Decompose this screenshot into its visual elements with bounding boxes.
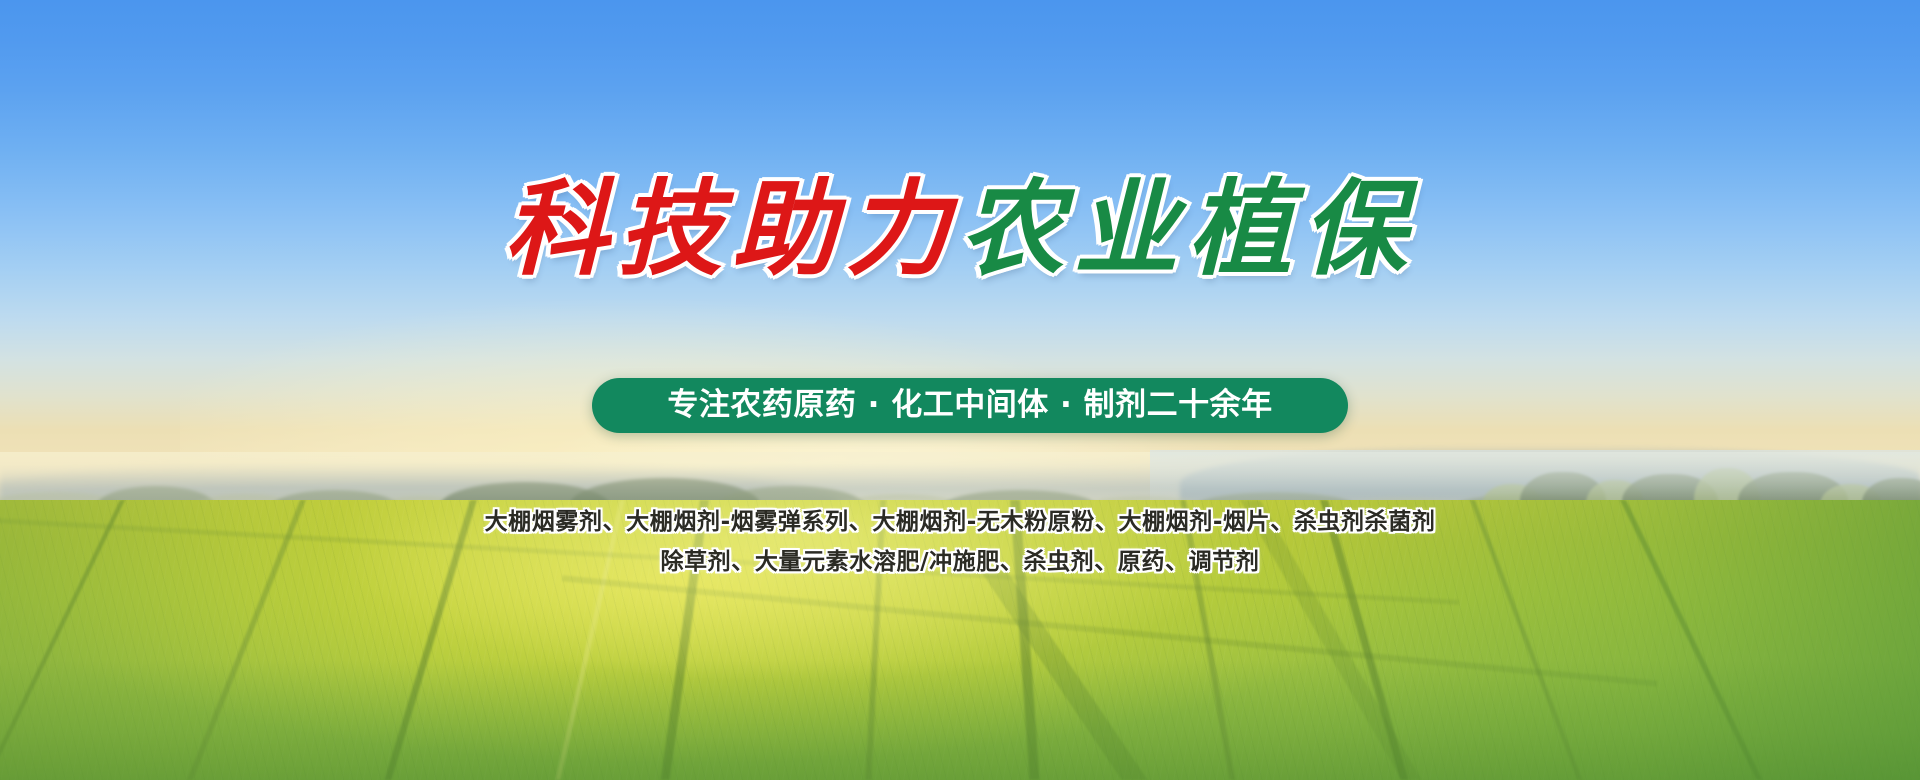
field-shadow-bottom [0,660,1920,780]
hero-banner: 科技助力农业植保 专注农药原药 · 化工中间体 · 制剂二十余年 大棚烟雾剂、大… [0,0,1920,780]
crop-field [0,500,1920,780]
tagline-badge-text: 专注农药原药 · 化工中间体 · 制剂二十余年 [667,390,1272,421]
tagline-badge: 专注农药原药 · 化工中间体 · 制剂二十余年 [592,378,1348,433]
